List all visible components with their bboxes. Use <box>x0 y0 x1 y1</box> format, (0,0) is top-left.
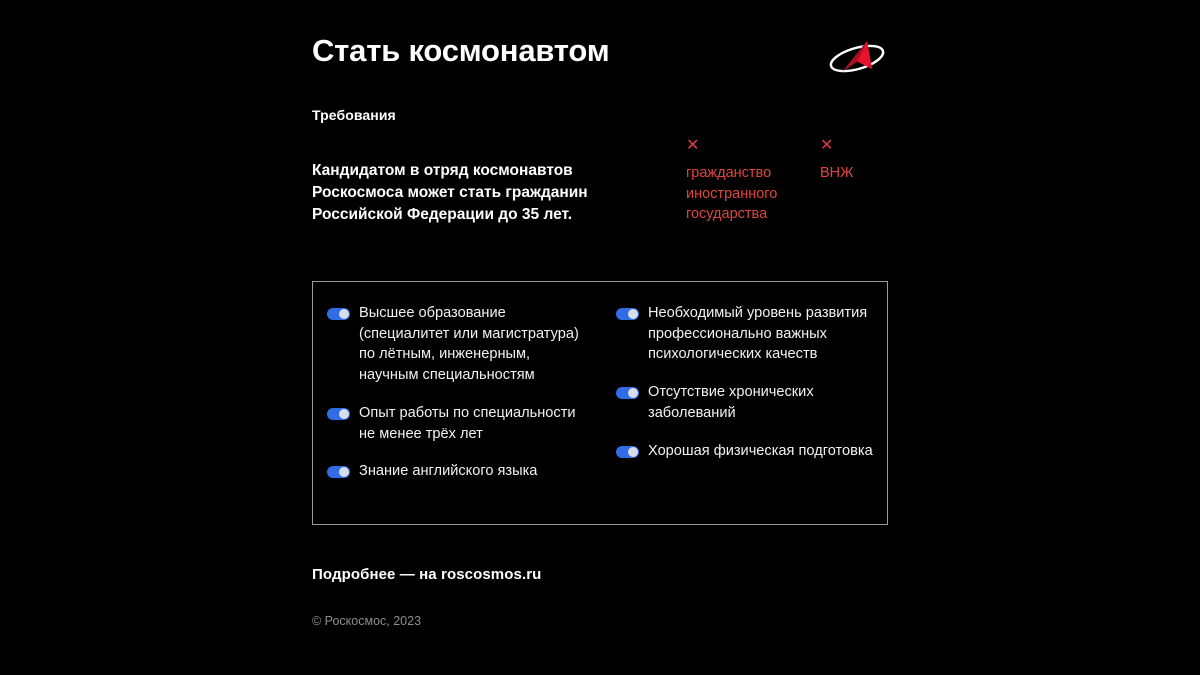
requirement-label: Знание английского языка <box>359 461 537 482</box>
toggle-switch-icon[interactable] <box>327 408 350 420</box>
roscosmos-logo-icon <box>826 36 888 80</box>
requirement-item[interactable]: Высшее образование (специалитет или маги… <box>327 303 586 386</box>
requirement-label: Отсутствие хронических заболеваний <box>648 382 873 423</box>
exclusions-group: ✕ гражданство иностранного государства ✕… <box>686 138 896 225</box>
requirement-item[interactable]: Опыт работы по специаль­ности не менее т… <box>327 403 586 444</box>
page-title: Стать космонавтом <box>312 34 609 68</box>
toggle-switch-icon[interactable] <box>327 308 350 320</box>
header: Стать космонавтом <box>312 34 888 86</box>
exclusion-label: ВНЖ <box>820 163 882 184</box>
requirement-item[interactable]: Знание английского языка <box>327 461 586 482</box>
requirement-item[interactable]: Необходимый уровень развития профессиона… <box>616 303 873 365</box>
exclusion-item: ✕ ВНЖ <box>820 138 882 184</box>
toggle-switch-icon[interactable] <box>327 466 350 478</box>
copyright-text: © Роскосмос, 2023 <box>312 614 421 628</box>
requirement-label: Хорошая физическая подготовка <box>648 441 873 462</box>
requirements-box: Высшее образование (специалитет или маги… <box>312 281 888 525</box>
requirements-column-left: Высшее образование (специалитет или маги… <box>313 282 600 524</box>
exclusion-label: гражданство иностранного государства <box>686 163 796 225</box>
requirements-column-right: Необходимый уровень развития профессиона… <box>600 282 887 524</box>
requirement-item[interactable]: Хорошая физическая подготовка <box>616 441 873 462</box>
cross-icon: ✕ <box>820 138 882 154</box>
eligibility-statement: Кандидатом в отряд космонавтов Роскосмос… <box>312 160 632 226</box>
toggle-switch-icon[interactable] <box>616 387 639 399</box>
requirement-item[interactable]: Отсутствие хронических заболеваний <box>616 382 873 423</box>
section-subtitle: Требования <box>312 107 396 123</box>
requirement-label: Необходимый уровень развития профессиона… <box>648 303 873 365</box>
toggle-switch-icon[interactable] <box>616 446 639 458</box>
cross-icon: ✕ <box>686 138 796 154</box>
slide-root: Стать космонавтом Требования Кандидатом … <box>0 0 1200 675</box>
toggle-switch-icon[interactable] <box>616 308 639 320</box>
requirement-label: Опыт работы по специаль­ности не менее т… <box>359 403 586 444</box>
exclusion-item: ✕ гражданство иностранного государства <box>686 138 796 225</box>
more-info-link[interactable]: Подробнее — на roscosmos.ru <box>312 566 541 583</box>
requirement-label: Высшее образование (специалитет или маги… <box>359 303 586 386</box>
requirements-columns: Высшее образование (специалитет или маги… <box>313 282 887 524</box>
